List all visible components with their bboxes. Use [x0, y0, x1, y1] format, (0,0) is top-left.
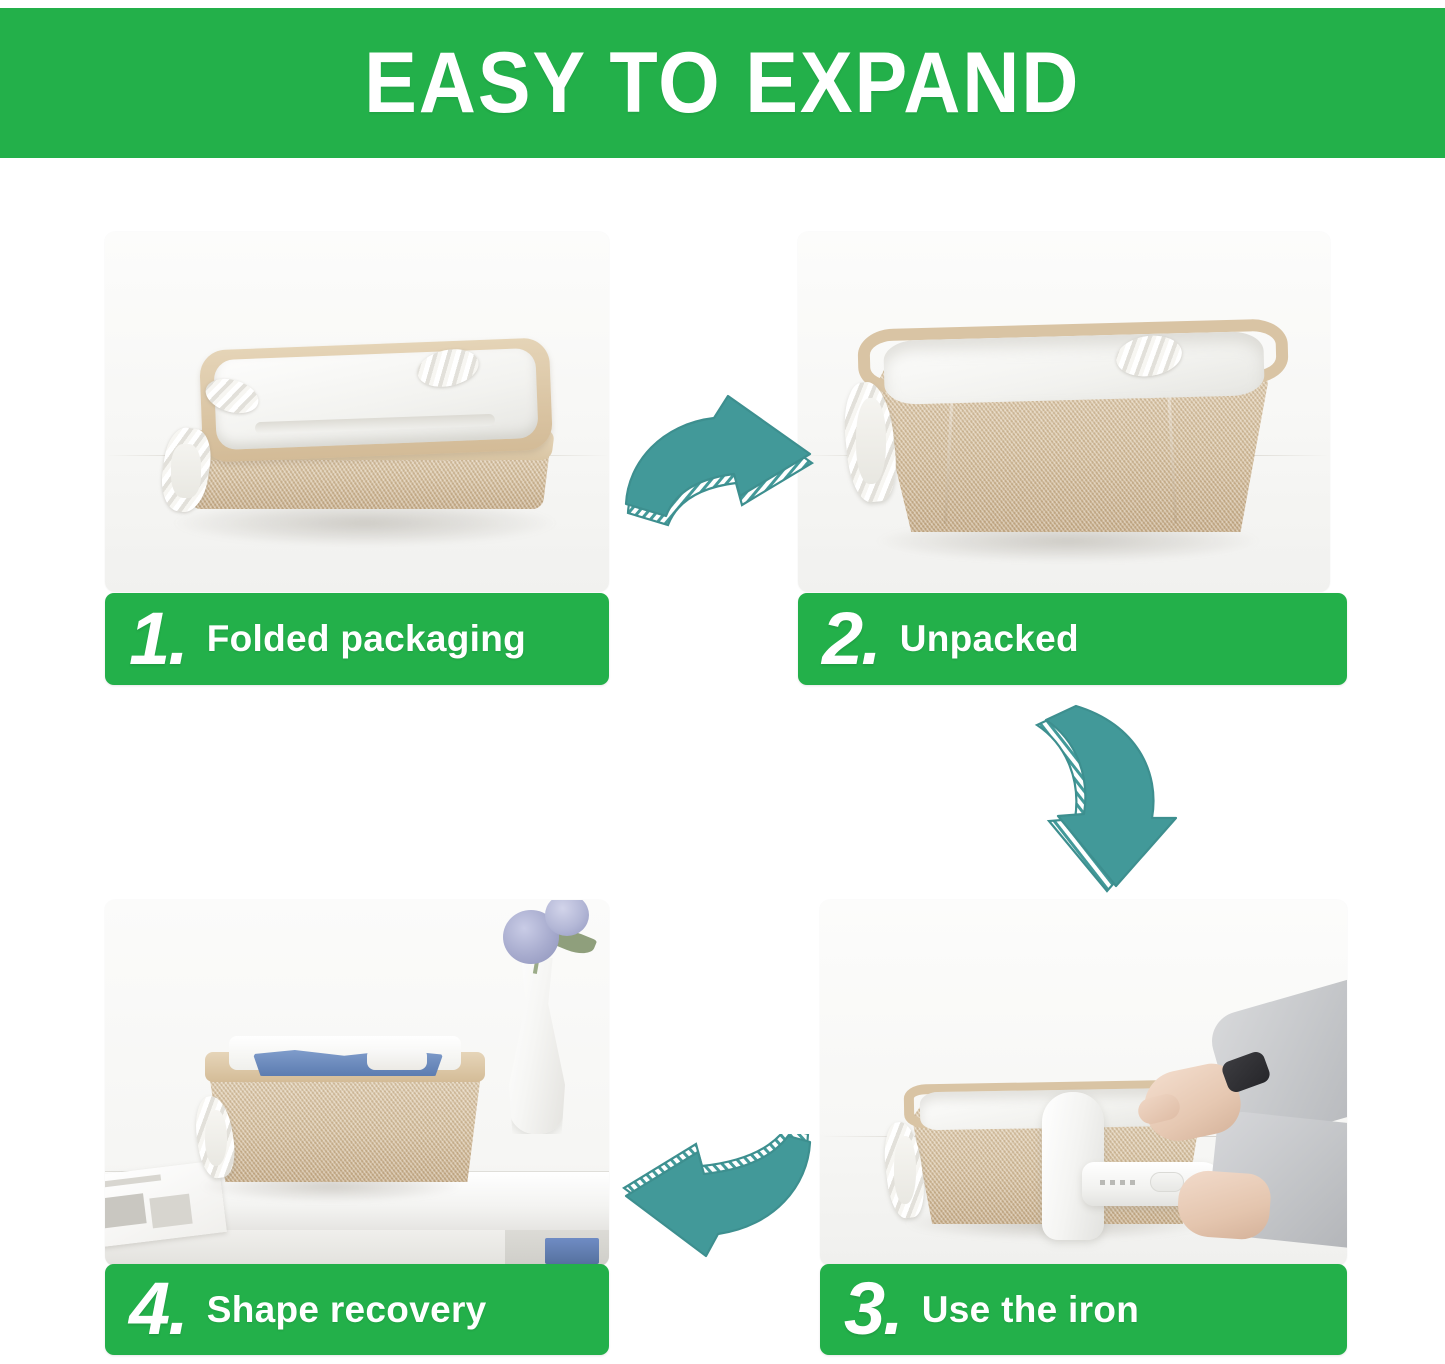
page-title: EASY TO EXPAND [364, 40, 1080, 126]
step-1-label: Folded packaging [207, 618, 526, 660]
step-panel-4: 4. Shape recovery [105, 900, 609, 1355]
step-4-number: 4. [129, 1279, 187, 1340]
step-1-number: 1. [129, 609, 187, 670]
step-2-photo [798, 232, 1330, 592]
step-3-label: Use the iron [922, 1289, 1139, 1331]
step-3-number: 3. [844, 1279, 902, 1340]
step-1-photo [105, 232, 609, 592]
arrow-step1-to-step2-icon [618, 392, 818, 528]
step-4-photo [105, 900, 609, 1266]
arrow-step3-to-step4-icon [622, 1134, 818, 1260]
header-banner: EASY TO EXPAND [0, 8, 1445, 158]
step-3-caption-bar: 3. Use the iron [820, 1264, 1347, 1355]
step-panel-1: 1. Folded packaging [105, 232, 609, 690]
step-4-caption-bar: 4. Shape recovery [105, 1264, 609, 1355]
step-panel-2: 2. Unpacked [798, 232, 1347, 690]
step-panel-3: 3. Use the iron [820, 900, 1347, 1355]
step-4-label: Shape recovery [207, 1289, 487, 1331]
arrow-step2-to-step3-icon [1024, 700, 1202, 896]
step-2-label: Unpacked [900, 618, 1079, 660]
step-2-number: 2. [822, 609, 880, 670]
step-1-caption-bar: 1. Folded packaging [105, 593, 609, 685]
step-3-photo [820, 900, 1347, 1266]
step-2-caption-bar: 2. Unpacked [798, 593, 1347, 685]
